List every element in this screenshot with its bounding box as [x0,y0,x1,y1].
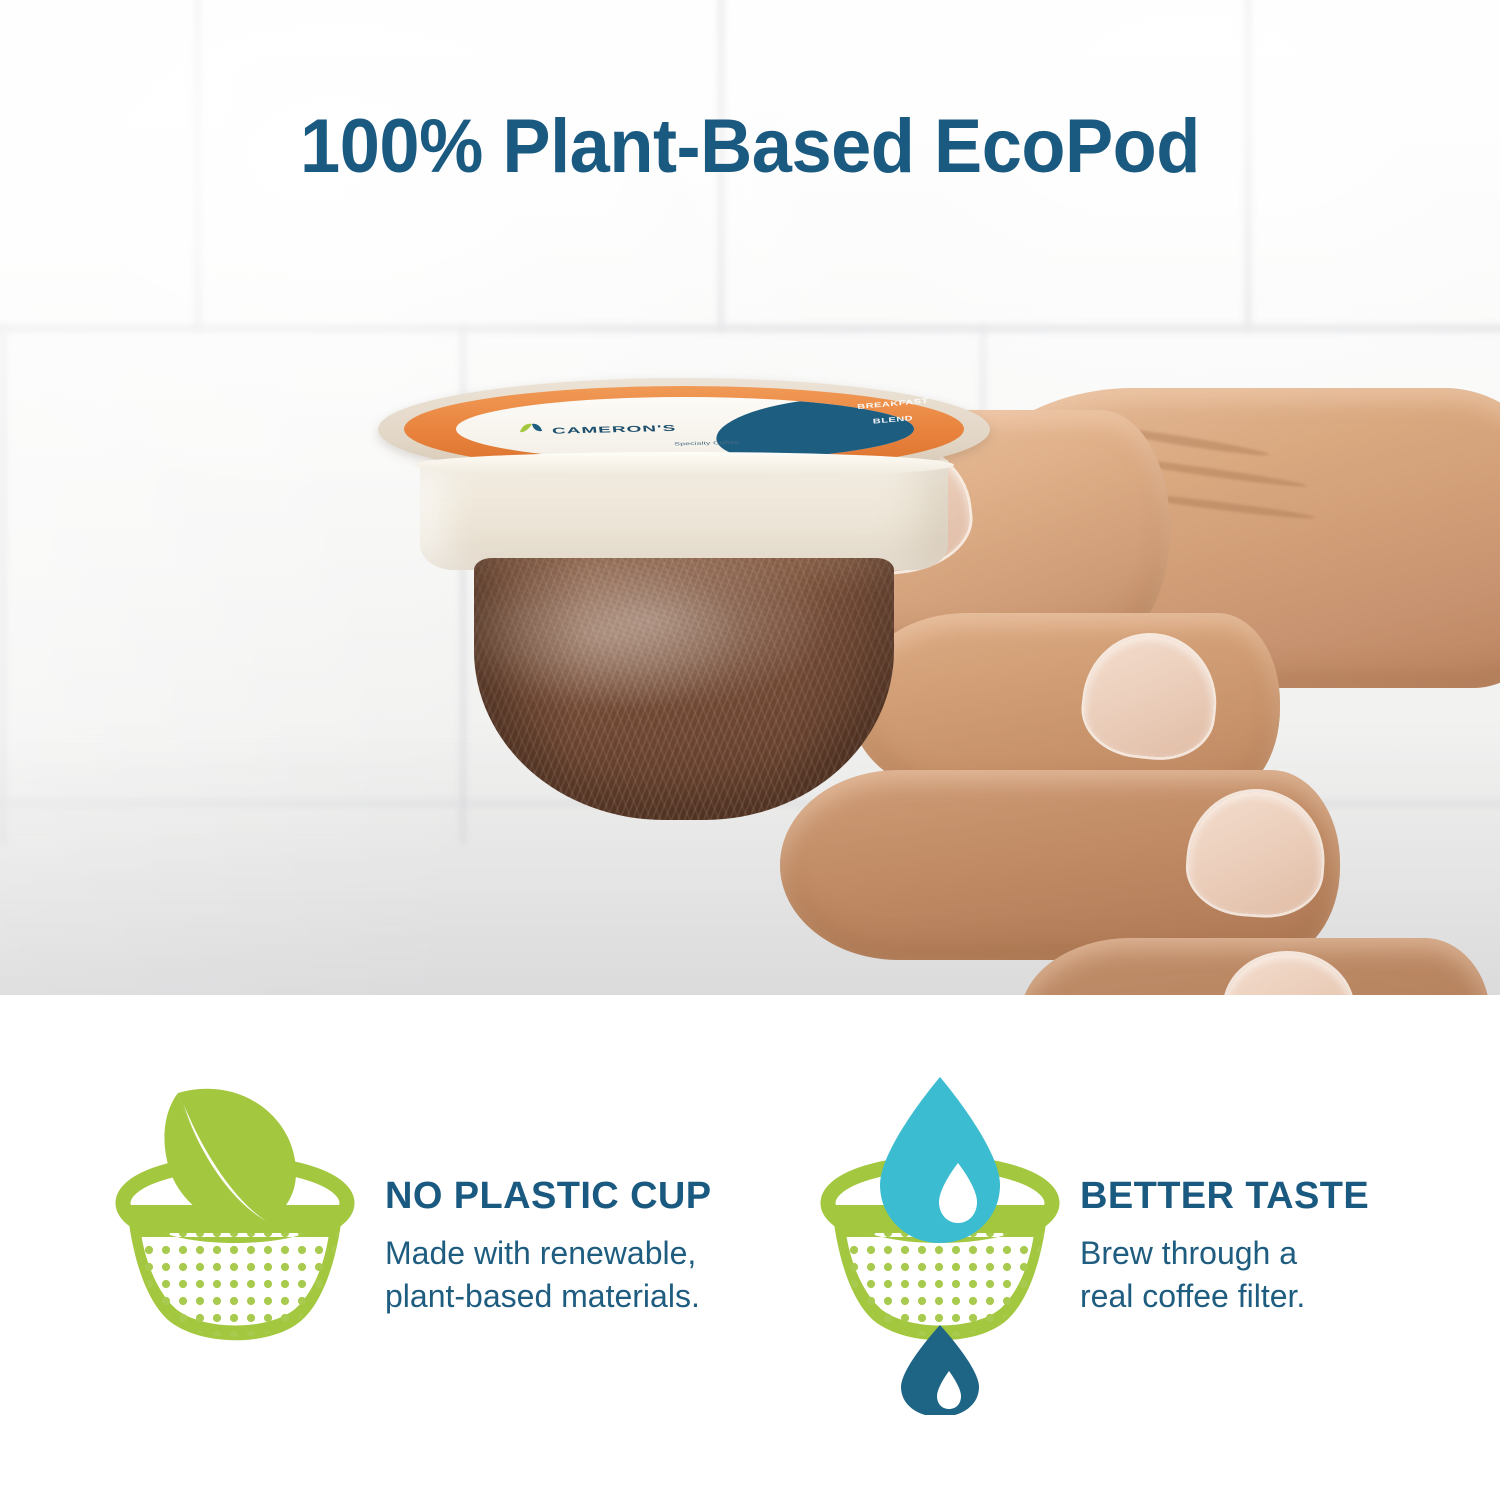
water-drop-pod-icon [815,1075,1080,1420]
page-title: 100% Plant-Based EcoPod [38,103,1463,190]
feature-description-line-1: Brew through a [1080,1232,1369,1275]
pod-coffee-filter [474,558,894,820]
feature-title: BETTER TASTE [1080,1175,1369,1218]
feature-no-plastic-cup: NO PLASTIC CUP Made with renewable, plan… [0,995,795,1500]
feature-text-block: NO PLASTIC CUP Made with renewable, plan… [385,1075,712,1317]
feature-description: Brew through a real coffee filter. [1080,1232,1369,1317]
feature-title: NO PLASTIC CUP [385,1175,712,1218]
feature-description-line-2: real coffee filter. [1080,1275,1369,1318]
leaf-in-pod-icon [110,1075,385,1350]
coffee-pod: CAMERON'S Specialty Coffee BREAKFAST BLE… [378,378,1003,828]
hero-photo-section: CAMERON'S Specialty Coffee BREAKFAST BLE… [0,0,1500,995]
feature-panel: NO PLASTIC CUP Made with renewable, plan… [0,995,1500,1500]
pod-collar-lip [414,452,954,478]
feature-description-line-2: plant-based materials. [385,1275,712,1318]
leaf-mark-icon [518,423,544,435]
feature-better-taste: BETTER TASTE Brew through a real coffee … [795,995,1500,1500]
feature-text-block: BETTER TASTE Brew through a real coffee … [1080,1075,1369,1317]
feature-description-line-1: Made with renewable, [385,1232,712,1275]
pod-brand-name: CAMERON'S [552,424,677,437]
feature-description: Made with renewable, plant-based materia… [385,1232,712,1317]
